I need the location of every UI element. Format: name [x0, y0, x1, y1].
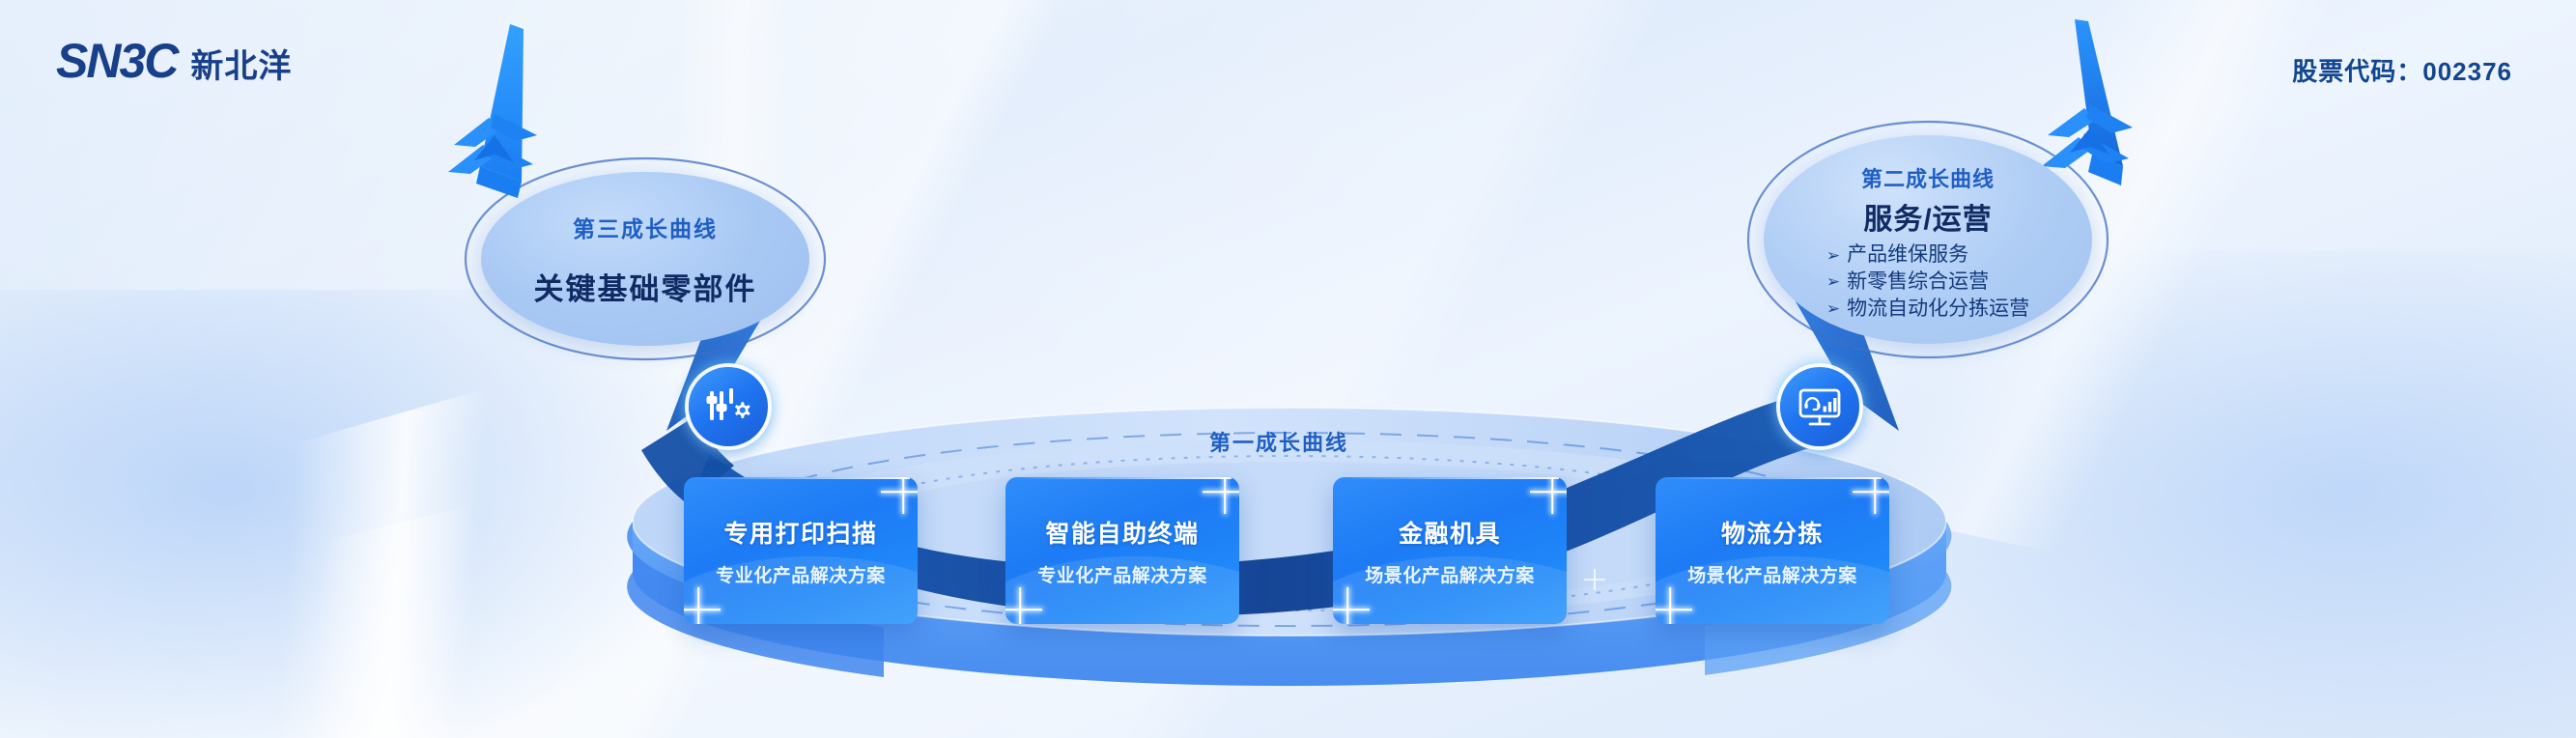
scene-illustration — [0, 0, 2576, 738]
card-top-highlight — [1663, 477, 1882, 479]
sparkle-icon — [1333, 587, 1370, 624]
list-item: ➢ 物流自动化分拣运营 — [1826, 296, 2029, 323]
sparkle-icon — [1656, 587, 1692, 624]
list-item-label: 新零售综合运营 — [1847, 269, 1989, 296]
stock-code: 股票代码：002376 — [2292, 52, 2512, 88]
third-curve-subtitle: 第三成长曲线 — [573, 211, 718, 243]
logo-chinese-name: 新北洋 — [190, 50, 292, 85]
second-curve-subtitle: 第二成长曲线 — [1861, 162, 1995, 193]
sparkle-icon — [881, 477, 918, 514]
card-title: 金融机具 — [1399, 515, 1501, 550]
card-subtitle: 专业化产品解决方案 — [716, 561, 886, 587]
list-item: ➢ 产品维保服务 — [1826, 241, 2029, 269]
sliders-gear-icon — [704, 383, 752, 431]
product-card[interactable]: 智能自助终端 专业化产品解决方案 — [1005, 477, 1239, 624]
list-item-label: 产品维保服务 — [1847, 241, 1968, 269]
infographic-canvas: SN3C 新北洋 股票代码：002376 第三成长曲线 关键基础零部件 第二成长… — [0, 0, 2576, 738]
bullet-arrow-icon: ➢ — [1826, 300, 1840, 317]
card-subtitle: 场景化产品解决方案 — [1365, 561, 1535, 587]
growth-arrow-right — [2042, 19, 2133, 185]
second-growth-curve-bubble: 第二成长曲线 服务/运营 ➢ 产品维保服务 ➢ 新零售综合运营 ➢ 物流自动化分… — [1764, 135, 2092, 344]
brand-logo: SN3C 新北洋 — [56, 37, 292, 85]
sparkle-icon — [1853, 477, 1889, 514]
product-card[interactable]: 物流分拣 场景化产品解决方案 — [1656, 477, 1889, 624]
card-title: 物流分拣 — [1721, 515, 1824, 550]
third-curve-title: 关键基础零部件 — [534, 265, 757, 308]
card-subtitle: 场景化产品解决方案 — [1687, 561, 1857, 587]
card-top-highlight — [1013, 477, 1231, 479]
growth-arrow-left — [448, 24, 537, 198]
sparkle-icon — [1530, 477, 1567, 514]
monitor-headset-chart-icon-badge — [1780, 367, 1859, 446]
card-subtitle: 专业化产品解决方案 — [1037, 561, 1207, 587]
monitor-headset-chart-icon — [1796, 383, 1844, 431]
sliders-gear-icon-badge — [689, 367, 768, 446]
logo-mark: SN3C — [56, 37, 177, 85]
list-item: ➢ 新零售综合运营 — [1826, 269, 2029, 296]
list-item-label: 物流自动化分拣运营 — [1847, 296, 2029, 323]
second-curve-bullet-list: ➢ 产品维保服务 ➢ 新零售综合运营 ➢ 物流自动化分拣运营 — [1826, 241, 2029, 323]
sparkle-icon — [684, 587, 721, 624]
product-card[interactable]: 金融机具 场景化产品解决方案 — [1333, 477, 1567, 624]
card-top-highlight — [1341, 477, 1559, 479]
bullet-arrow-icon: ➢ — [1826, 273, 1840, 290]
card-title: 智能自助终端 — [1045, 515, 1199, 550]
third-growth-curve-bubble: 第三成长曲线 关键基础零部件 — [481, 172, 809, 346]
card-title: 专用打印扫描 — [723, 515, 877, 550]
bullet-arrow-icon: ➢ — [1826, 247, 1840, 264]
product-card[interactable]: 专用打印扫描 专业化产品解决方案 — [684, 477, 918, 624]
sparkle-icon — [1005, 587, 1042, 624]
first-growth-curve-label: 第一成长曲线 — [1209, 426, 1348, 457]
second-curve-title: 服务/运营 — [1863, 195, 1992, 238]
sparkle-icon — [1203, 477, 1239, 514]
card-top-highlight — [692, 477, 910, 479]
